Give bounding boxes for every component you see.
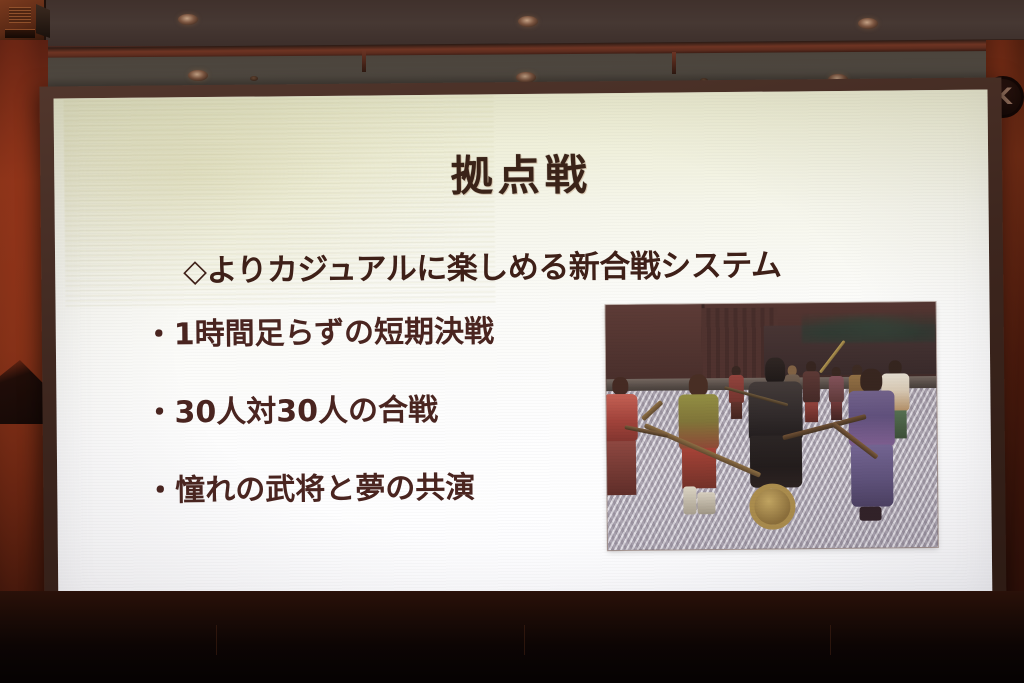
game-character — [746, 357, 805, 488]
projection-screen-surface: 拠点戦 ◇よりカジュアルに楽しめる新合戦システム ・1時間足らずの短期決戦 ・3… — [54, 90, 993, 620]
slide-title: 拠点戦 — [54, 138, 989, 208]
game-trees — [802, 308, 936, 343]
slide-content: 拠点戦 ◇よりカジュアルに楽しめる新合戦システム ・1時間足らずの短期決戦 ・3… — [54, 90, 993, 620]
ceiling-downlight-icon — [858, 18, 878, 29]
ceiling-downlight-icon — [518, 16, 538, 27]
ceiling-hanger — [672, 52, 676, 74]
stage-panel-seam — [524, 625, 525, 655]
device-slot — [5, 29, 35, 38]
game-character-boot — [859, 507, 881, 521]
stage-panel-seam — [830, 625, 831, 655]
game-character — [846, 368, 897, 520]
stage-base — [0, 591, 1024, 683]
stage-panel-seam — [216, 625, 217, 655]
slide-bullet-list: ・1時間足らずの短期決戦 ・30人対30人の合戦 ・憧れの武将と夢の共演 — [144, 305, 616, 544]
game-character — [802, 361, 821, 423]
game-character-boot — [697, 492, 715, 514]
left-wall-dark-shape — [0, 360, 48, 424]
ceiling-downlight-icon — [178, 14, 198, 25]
device-vent-grille — [9, 7, 31, 23]
slide-bullet-item: ・30人対30人の合戦 — [144, 383, 614, 432]
game-screenshot-image — [606, 302, 938, 550]
game-character — [828, 367, 845, 421]
slide-bullet-item: ・憧れの武将と夢の共演 — [145, 461, 615, 510]
projection-screen-frame: 拠点戦 ◇よりカジュアルに楽しめる新合戦システム ・1時間足らずの短期決戦 ・3… — [39, 77, 1006, 631]
game-character — [606, 377, 640, 495]
game-character-boot — [683, 486, 696, 514]
slide-subtitle: ◇よりカジュアルに楽しめる新合戦システム — [183, 238, 973, 291]
game-weapon-ring — [749, 483, 795, 529]
ceiling-hanger — [362, 50, 366, 72]
slide-bullet-item: ・1時間足らずの短期決戦 — [144, 305, 614, 354]
ceiling-downlight-icon — [250, 76, 258, 81]
ceiling-downlight-icon — [188, 70, 208, 81]
presentation-photo-scene: K 拠点戦 ◇よりカジュアルに楽しめる新合戦システム ・1時間足らずの短期決戦 … — [0, 0, 1024, 683]
